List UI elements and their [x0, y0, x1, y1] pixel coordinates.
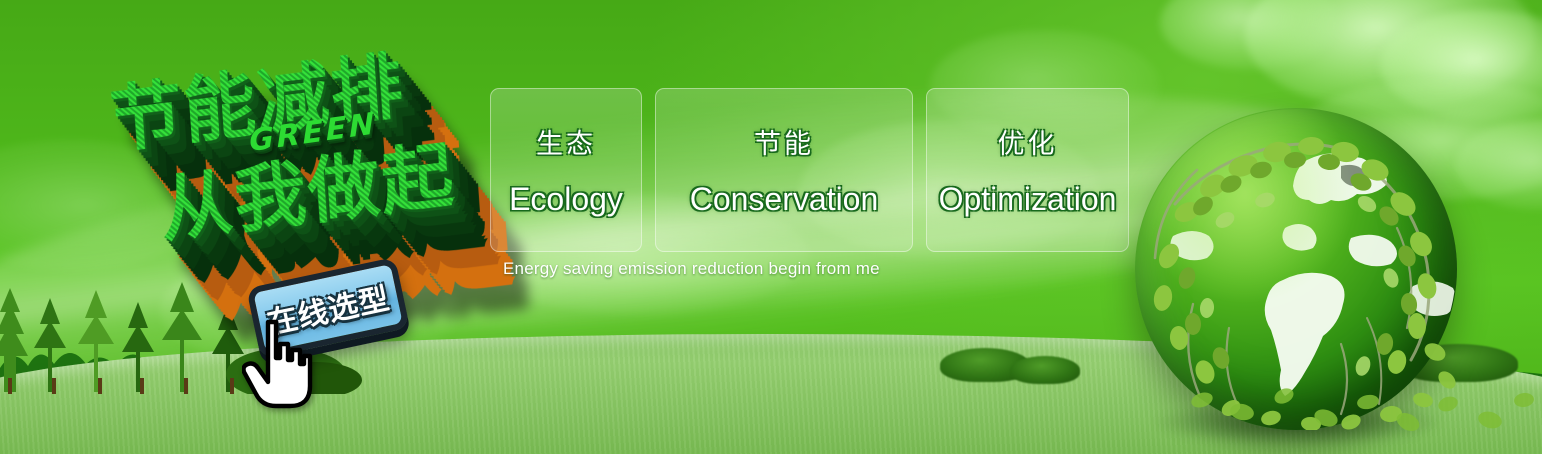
bush-icon	[1010, 356, 1080, 384]
feature-card-en-label: Conservation	[690, 181, 879, 218]
feature-card-ecology[interactable]: 生态 Ecology	[490, 88, 642, 252]
hand-pointer-icon	[242, 318, 314, 410]
fallen-leaves-icon	[1180, 374, 1542, 454]
headline-3d: 节能减排 GREEN 从我做起	[92, 26, 504, 287]
feature-card-en-label: Ecology	[509, 181, 623, 218]
feature-card-conservation[interactable]: 节能 Conservation	[655, 88, 913, 252]
banner-tagline: Energy saving emission reduction begin f…	[503, 259, 880, 279]
feature-card-cn-label: 节能	[754, 122, 814, 161]
cloud-icon	[1160, 0, 1340, 70]
feature-card-cn-label: 优化	[998, 122, 1058, 161]
feature-card-optimization[interactable]: 优化 Optimization	[926, 88, 1129, 252]
cloud-icon	[1245, 0, 1535, 110]
cloud-icon	[1455, 120, 1542, 210]
feature-card-cn-label: 生态	[536, 122, 596, 161]
cloud-icon	[1380, 10, 1542, 120]
green-banner: 节能减排 GREEN 从我做起 在线选型 生态 Ecology 节能 Conse…	[0, 0, 1542, 454]
feature-cards: 生态 Ecology 节能 Conservation 优化 Optimizati…	[490, 88, 1129, 252]
feature-card-en-label: Optimization	[939, 181, 1117, 218]
